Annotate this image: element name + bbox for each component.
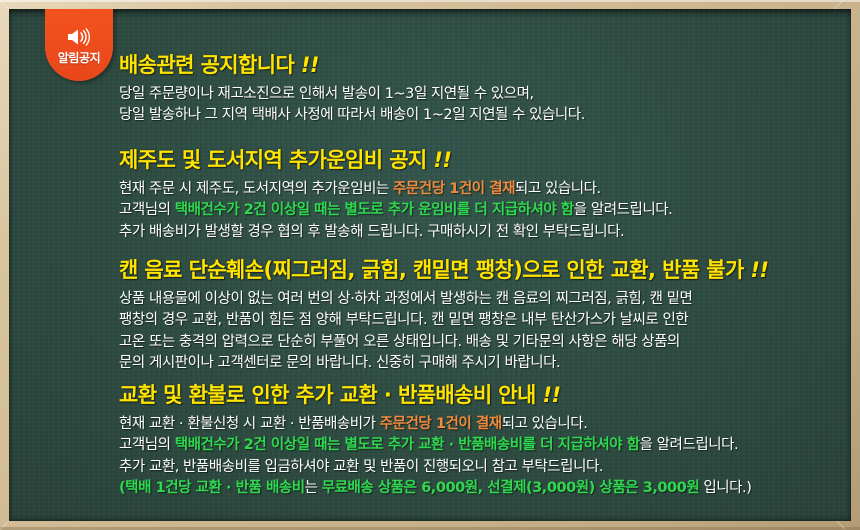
notice-section-jeju-surcharge: 제주도 및 도서지역 추가운임비 공지 !! 현재 주문 시 제주도, 도서지역… [119,148,845,243]
notice-text-run: 택배건수가 2건 이상일 때는 별도로 추가 운임비를 더 지급하셔야 함 [175,202,574,218]
section-heading: 배송관련 공지합니다 !! [119,53,845,78]
notice-content: 배송관련 공지합니다 !! 당일 주문량이나 재고소진으로 인해서 발송이 1~… [119,9,845,521]
notice-text-run: 되고 있습니다. [502,416,588,432]
notice-board-frame: 알림공지 배송관련 공지합니다 !! 당일 주문량이나 재고소진으로 인해서 발… [0,0,860,530]
notice-text-run: 당일 주문량이나 재고소진으로 인해서 발송이 1~3일 지연될 수 있으며, [119,86,534,102]
section-heading-bang: !! [542,383,560,407]
notice-badge: 알림공지 [45,9,113,81]
notice-line: 당일 발송하나 그 지역 택배사 사정에 따라서 배송이 1~2일 지연될 수 … [119,105,845,127]
section-heading-text: 제주도 및 도서지역 추가운임비 공지 [119,148,427,172]
notice-line: 현재 주문 시 제주도, 도서지역의 추가운임비는 주문건당 1건이 결재되고 … [119,179,845,201]
notice-line: 고객님의 택배건수가 2건 이상일 때는 별도로 추가 운임비를 더 지급하셔야… [119,200,845,222]
notice-line: 고온 또는 충격의 압력으로 단순히 부풀어 오른 상태입니다. 배송 및 기타… [119,332,845,354]
notice-section-can-damage: 캔 음료 단순훼손(찌그러짐, 긁힘, 캔밑면 팽창)으로 인한 교환, 반품 … [119,258,845,375]
section-heading-bang: !! [433,148,451,172]
notice-text-run: 팽창의 경우 교환, 반품이 힘든 점 양해 부탁드립니다. 캔 밑면 팽창은 … [119,312,688,328]
section-heading: 제주도 및 도서지역 추가운임비 공지 !! [119,148,845,173]
notice-text-run: 상품 내용물에 이상이 없는 여러 번의 상·하차 과정에서 발생하는 캔 음료… [119,291,692,307]
section-body: 현재 주문 시 제주도, 도서지역의 추가운임비는 주문건당 1건이 결재되고 … [119,179,845,244]
notice-text-run: 추가 배송비가 발생할 경우 협의 후 발송해 드립니다. 구매하시기 전 확인… [119,224,624,240]
chalkboard-surface: 알림공지 배송관련 공지합니다 !! 당일 주문량이나 재고소진으로 인해서 발… [9,9,851,521]
notice-text-run: 입니다.) [699,480,751,496]
notice-text-run: 현재 주문 시 제주도, 도서지역의 추가운임비는 [119,181,393,197]
notice-text-run: 고온 또는 충격의 압력으로 단순히 부풀어 오른 상태입니다. 배송 및 기타… [119,334,680,350]
notice-line: 상품 내용물에 이상이 없는 여러 번의 상·하차 과정에서 발생하는 캔 음료… [119,289,845,311]
notice-text-run: 고객님의 [119,202,175,218]
notice-line: 고객님의 택배건수가 2건 이상일 때는 별도로 추가 교환 · 반품배송비를 … [119,435,845,457]
notice-text-run: 주문건당 1건이 결재 [393,181,515,197]
notice-section-return-fee: 교환 및 환불로 인한 추가 교환 · 반품배송비 안내 !! 현재 교환 · … [119,383,845,500]
notice-section-shipping: 배송관련 공지합니다 !! 당일 주문량이나 재고소진으로 인해서 발송이 1~… [119,53,845,127]
notice-line: 추가 배송비가 발생할 경우 협의 후 발송해 드립니다. 구매하시기 전 확인… [119,222,845,244]
notice-text-run: 무료배송 상품은 6,000원, 선결제(3,000원) 상품은 3,000원 [322,480,700,496]
section-heading-bang: !! [301,53,319,77]
notice-text-run: 택배건수가 2건 이상일 때는 별도로 추가 교환 · 반품배송비를 더 지급하… [175,437,640,453]
notice-text-run: 추가 교환, 반품배송비를 입금하셔야 교환 및 반품이 진행되오니 참고 부탁… [119,459,603,475]
section-body: 상품 내용물에 이상이 없는 여러 번의 상·하차 과정에서 발생하는 캔 음료… [119,289,845,375]
notice-line: 당일 주문량이나 재고소진으로 인해서 발송이 1~3일 지연될 수 있으며, [119,84,845,106]
section-heading: 캔 음료 단순훼손(찌그러짐, 긁힘, 캔밑면 팽창)으로 인한 교환, 반품 … [119,258,845,283]
notice-line: (택배 1건당 교환 · 반품 배송비는 무료배송 상품은 6,000원, 선결… [119,478,845,500]
notice-text-run: 당일 발송하나 그 지역 택배사 사정에 따라서 배송이 1~2일 지연될 수 … [119,107,585,123]
notice-text-run: 현재 교환 · 환불신청 시 교환 · 반품배송비가 [119,416,380,432]
notice-text-run: 는 [305,480,322,496]
notice-line: 문의 게시판이나 고객센터로 문의 바랍니다. 신중히 구매해 주시기 바랍니다… [119,353,845,375]
section-heading-bang: !! [750,258,768,282]
notice-line: 현재 교환 · 환불신청 시 교환 · 반품배송비가 주문건당 1건이 결재되고… [119,414,845,436]
section-heading-text: 배송관련 공지합니다 [119,53,294,77]
section-body: 당일 주문량이나 재고소진으로 인해서 발송이 1~3일 지연될 수 있으며,당… [119,84,845,127]
notice-text-run: 되고 있습니다. [515,181,601,197]
notice-text-run: 을 알려드립니다. [640,437,739,453]
notice-line: 추가 교환, 반품배송비를 입금하셔야 교환 및 반품이 진행되오니 참고 부탁… [119,457,845,479]
speaker-announcement-icon [66,27,92,47]
section-heading: 교환 및 환불로 인한 추가 교환 · 반품배송비 안내 !! [119,383,845,408]
notice-text-run: 을 알려드립니다. [574,202,673,218]
notice-line: 팽창의 경우 교환, 반품이 힘든 점 양해 부탁드립니다. 캔 밑면 팽창은 … [119,310,845,332]
notice-text-run: 주문건당 1건이 결재 [380,416,502,432]
notice-text-run: 고객님의 [119,437,175,453]
section-heading-text: 교환 및 환불로 인한 추가 교환 · 반품배송비 안내 [119,383,536,407]
section-body: 현재 교환 · 환불신청 시 교환 · 반품배송비가 주문건당 1건이 결재되고… [119,414,845,500]
notice-badge-label: 알림공지 [58,52,101,64]
notice-text-run: (택배 1건당 교환 · 반품 배송비 [119,480,305,496]
section-heading-text: 캔 음료 단순훼손(찌그러짐, 긁힘, 캔밑면 팽창)으로 인한 교환, 반품 … [119,258,744,282]
notice-text-run: 문의 게시판이나 고객센터로 문의 바랍니다. 신중히 구매해 주시기 바랍니다… [119,355,560,371]
